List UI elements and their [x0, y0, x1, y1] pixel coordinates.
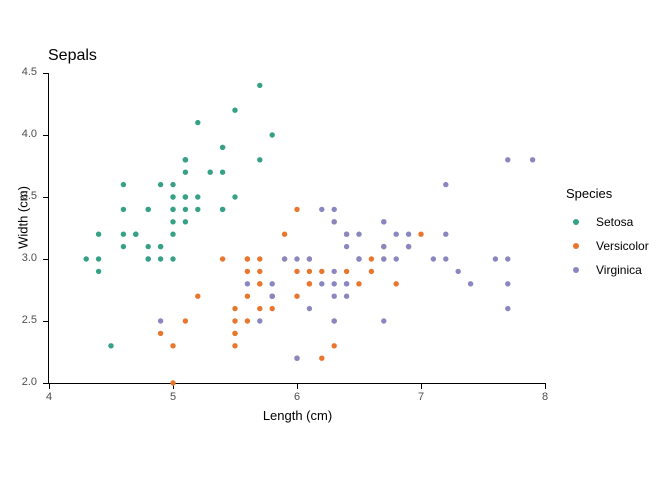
y-tick-label: 4.0	[9, 128, 37, 140]
data-point	[270, 306, 275, 311]
data-point	[158, 318, 163, 323]
data-point	[443, 256, 448, 261]
data-point	[294, 294, 299, 299]
data-point	[121, 182, 126, 187]
x-tick-mark	[421, 384, 422, 389]
series-setosa	[84, 83, 275, 349]
legend-swatch-icon	[573, 219, 579, 225]
data-point	[319, 356, 324, 361]
series-virginica	[158, 157, 535, 361]
data-point	[344, 269, 349, 274]
x-tick-label: 6	[282, 391, 312, 403]
data-point	[245, 318, 250, 323]
data-point	[468, 281, 473, 286]
data-point	[208, 170, 213, 175]
data-point	[96, 232, 101, 237]
data-point	[158, 244, 163, 249]
legend: Species SetosaVersicolorVirginica	[566, 186, 649, 282]
data-point	[381, 318, 386, 323]
y-tick-mark	[43, 321, 48, 322]
data-point	[344, 244, 349, 249]
data-point	[170, 182, 175, 187]
data-point	[381, 219, 386, 224]
data-point	[394, 281, 399, 286]
data-point	[443, 182, 448, 187]
x-tick-mark	[297, 384, 298, 389]
data-point	[493, 256, 498, 261]
data-point	[307, 256, 312, 261]
data-point	[332, 207, 337, 212]
x-tick-label: 8	[530, 391, 560, 403]
y-tick-mark	[43, 197, 48, 198]
y-tick-mark	[43, 383, 48, 384]
data-point	[183, 207, 188, 212]
data-point	[195, 120, 200, 125]
data-point	[505, 306, 510, 311]
data-point	[96, 256, 101, 261]
data-point	[443, 232, 448, 237]
y-tick-mark	[43, 135, 48, 136]
y-axis-title: Width (cm)	[16, 148, 31, 288]
data-point	[332, 294, 337, 299]
data-point	[220, 256, 225, 261]
data-point	[418, 232, 423, 237]
data-point	[505, 281, 510, 286]
data-point	[369, 256, 374, 261]
data-point	[319, 269, 324, 274]
data-point	[505, 256, 510, 261]
data-point	[245, 269, 250, 274]
data-point	[282, 232, 287, 237]
data-point	[220, 170, 225, 175]
legend-key	[566, 219, 586, 225]
data-point	[170, 207, 175, 212]
data-point	[220, 207, 225, 212]
legend-swatch-icon	[573, 267, 579, 273]
data-point	[170, 256, 175, 261]
data-point	[232, 331, 237, 336]
data-point	[245, 294, 250, 299]
data-point	[170, 380, 175, 385]
x-axis-title: Length (cm)	[49, 408, 546, 423]
data-point	[121, 244, 126, 249]
data-point	[232, 306, 237, 311]
data-point	[121, 207, 126, 212]
data-point	[108, 343, 113, 348]
data-point	[133, 232, 138, 237]
data-point	[257, 281, 262, 286]
data-point	[183, 157, 188, 162]
data-point	[170, 194, 175, 199]
data-point	[344, 294, 349, 299]
legend-label: Versicolor	[596, 239, 649, 253]
data-point	[319, 207, 324, 212]
data-point	[232, 108, 237, 113]
data-point	[356, 232, 361, 237]
data-point	[369, 269, 374, 274]
data-point	[307, 281, 312, 286]
data-point	[146, 244, 151, 249]
data-point	[245, 256, 250, 261]
data-point	[183, 318, 188, 323]
data-point	[245, 281, 250, 286]
data-point	[232, 318, 237, 323]
y-tick-label: 2.0	[9, 376, 37, 388]
y-tick-mark	[43, 259, 48, 260]
data-point	[170, 219, 175, 224]
data-point	[270, 132, 275, 137]
data-point	[257, 306, 262, 311]
data-point	[530, 157, 535, 162]
data-point	[307, 269, 312, 274]
legend-label: Virginica	[596, 263, 642, 277]
data-point	[344, 232, 349, 237]
data-point	[195, 207, 200, 212]
x-tick-label: 4	[34, 391, 64, 403]
data-point	[195, 294, 200, 299]
data-point	[332, 318, 337, 323]
data-points-layer	[49, 73, 545, 383]
legend-key	[566, 243, 586, 249]
legend-item-setosa[interactable]: Setosa	[566, 210, 649, 234]
legend-items: SetosaVersicolorVirginica	[566, 210, 649, 282]
page-title: Sepals	[48, 47, 97, 65]
data-point	[505, 157, 510, 162]
data-point	[195, 194, 200, 199]
data-point	[332, 281, 337, 286]
data-point	[270, 294, 275, 299]
data-point	[232, 343, 237, 348]
data-point	[431, 256, 436, 261]
data-point	[170, 232, 175, 237]
data-point	[406, 244, 411, 249]
data-point	[307, 306, 312, 311]
data-point	[232, 194, 237, 199]
data-point	[146, 256, 151, 261]
data-point	[183, 194, 188, 199]
plot-panel	[49, 73, 545, 383]
x-tick-mark	[545, 384, 546, 389]
data-point	[270, 281, 275, 286]
legend-swatch-icon	[573, 243, 579, 249]
data-point	[257, 83, 262, 88]
y-tick-label: 2.5	[9, 314, 37, 326]
x-tick-mark	[49, 384, 50, 389]
x-tick-label: 7	[406, 391, 436, 403]
data-point	[183, 219, 188, 224]
legend-title: Species	[566, 186, 649, 201]
data-point	[294, 207, 299, 212]
data-point	[183, 170, 188, 175]
chart-container: Sepals 2.02.53.03.54.04.5 45678 Length (…	[0, 0, 672, 480]
data-point	[170, 343, 175, 348]
data-point	[282, 256, 287, 261]
x-tick-label: 5	[158, 391, 188, 403]
y-tick-label: 4.5	[9, 66, 37, 78]
data-point	[394, 256, 399, 261]
data-point	[121, 232, 126, 237]
data-point	[257, 318, 262, 323]
legend-item-versicolor[interactable]: Versicolor	[566, 234, 649, 258]
data-point	[332, 343, 337, 348]
data-point	[319, 281, 324, 286]
data-point	[84, 256, 89, 261]
data-point	[406, 232, 411, 237]
data-point	[356, 256, 361, 261]
data-point	[332, 219, 337, 224]
data-point	[146, 207, 151, 212]
data-point	[257, 157, 262, 162]
data-point	[456, 269, 461, 274]
series-versicolor	[158, 207, 424, 386]
legend-key	[566, 267, 586, 273]
data-point	[158, 331, 163, 336]
legend-item-virginica[interactable]: Virginica	[566, 258, 649, 282]
data-point	[294, 356, 299, 361]
data-point	[394, 232, 399, 237]
data-point	[257, 256, 262, 261]
data-point	[158, 182, 163, 187]
data-point	[294, 256, 299, 261]
data-point	[356, 281, 361, 286]
data-point	[381, 256, 386, 261]
legend-label: Setosa	[596, 215, 633, 229]
data-point	[257, 269, 262, 274]
y-tick-mark	[43, 73, 48, 74]
data-point	[344, 281, 349, 286]
data-point	[220, 145, 225, 150]
data-point	[96, 269, 101, 274]
data-point	[332, 269, 337, 274]
data-point	[381, 244, 386, 249]
data-point	[294, 269, 299, 274]
data-point	[158, 256, 163, 261]
